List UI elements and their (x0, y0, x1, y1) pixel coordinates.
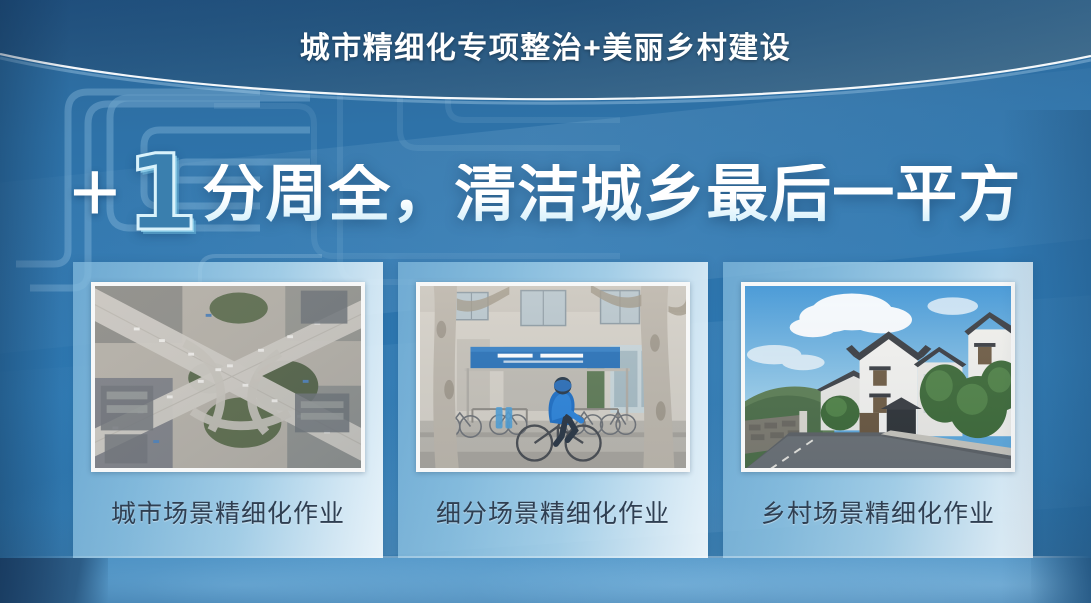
bottom-right-shade (1031, 558, 1091, 603)
card-row: 城市场景精细化作业 (73, 262, 1033, 558)
headline-text: 分周全，清洁城乡最后一平方 (202, 164, 1021, 226)
card-city-scene[interactable]: 城市场景精细化作业 (73, 262, 383, 558)
card-rural-scene[interactable]: 乡村场景精细化作业 (723, 262, 1033, 558)
street-bike-parking-banner-photo (416, 282, 690, 472)
card-caption: 城市场景精细化作业 (111, 494, 345, 530)
aerial-city-highway-interchange-photo (91, 282, 365, 472)
rural-village-white-houses-photo (741, 282, 1015, 472)
headline-number-one: 1 (126, 141, 198, 245)
headline: + 1 分周全，清洁城乡最后一平方 (0, 146, 1091, 244)
card-caption: 乡村场景精细化作业 (761, 494, 995, 530)
slide-canvas: 城市精细化专项整治+美丽乡村建设 + 1 分周全，清洁城乡最后一平方 (0, 0, 1091, 603)
bottom-glow-strip (0, 558, 1091, 603)
bottom-left-shade (0, 558, 108, 603)
card-caption: 细分场景精细化作业 (436, 494, 670, 530)
page-title: 城市精细化专项整治+美丽乡村建设 (0, 23, 1091, 67)
card-subdivided-scene[interactable]: 细分场景精细化作业 (398, 262, 708, 558)
headline-plus-sign: + (70, 149, 120, 235)
